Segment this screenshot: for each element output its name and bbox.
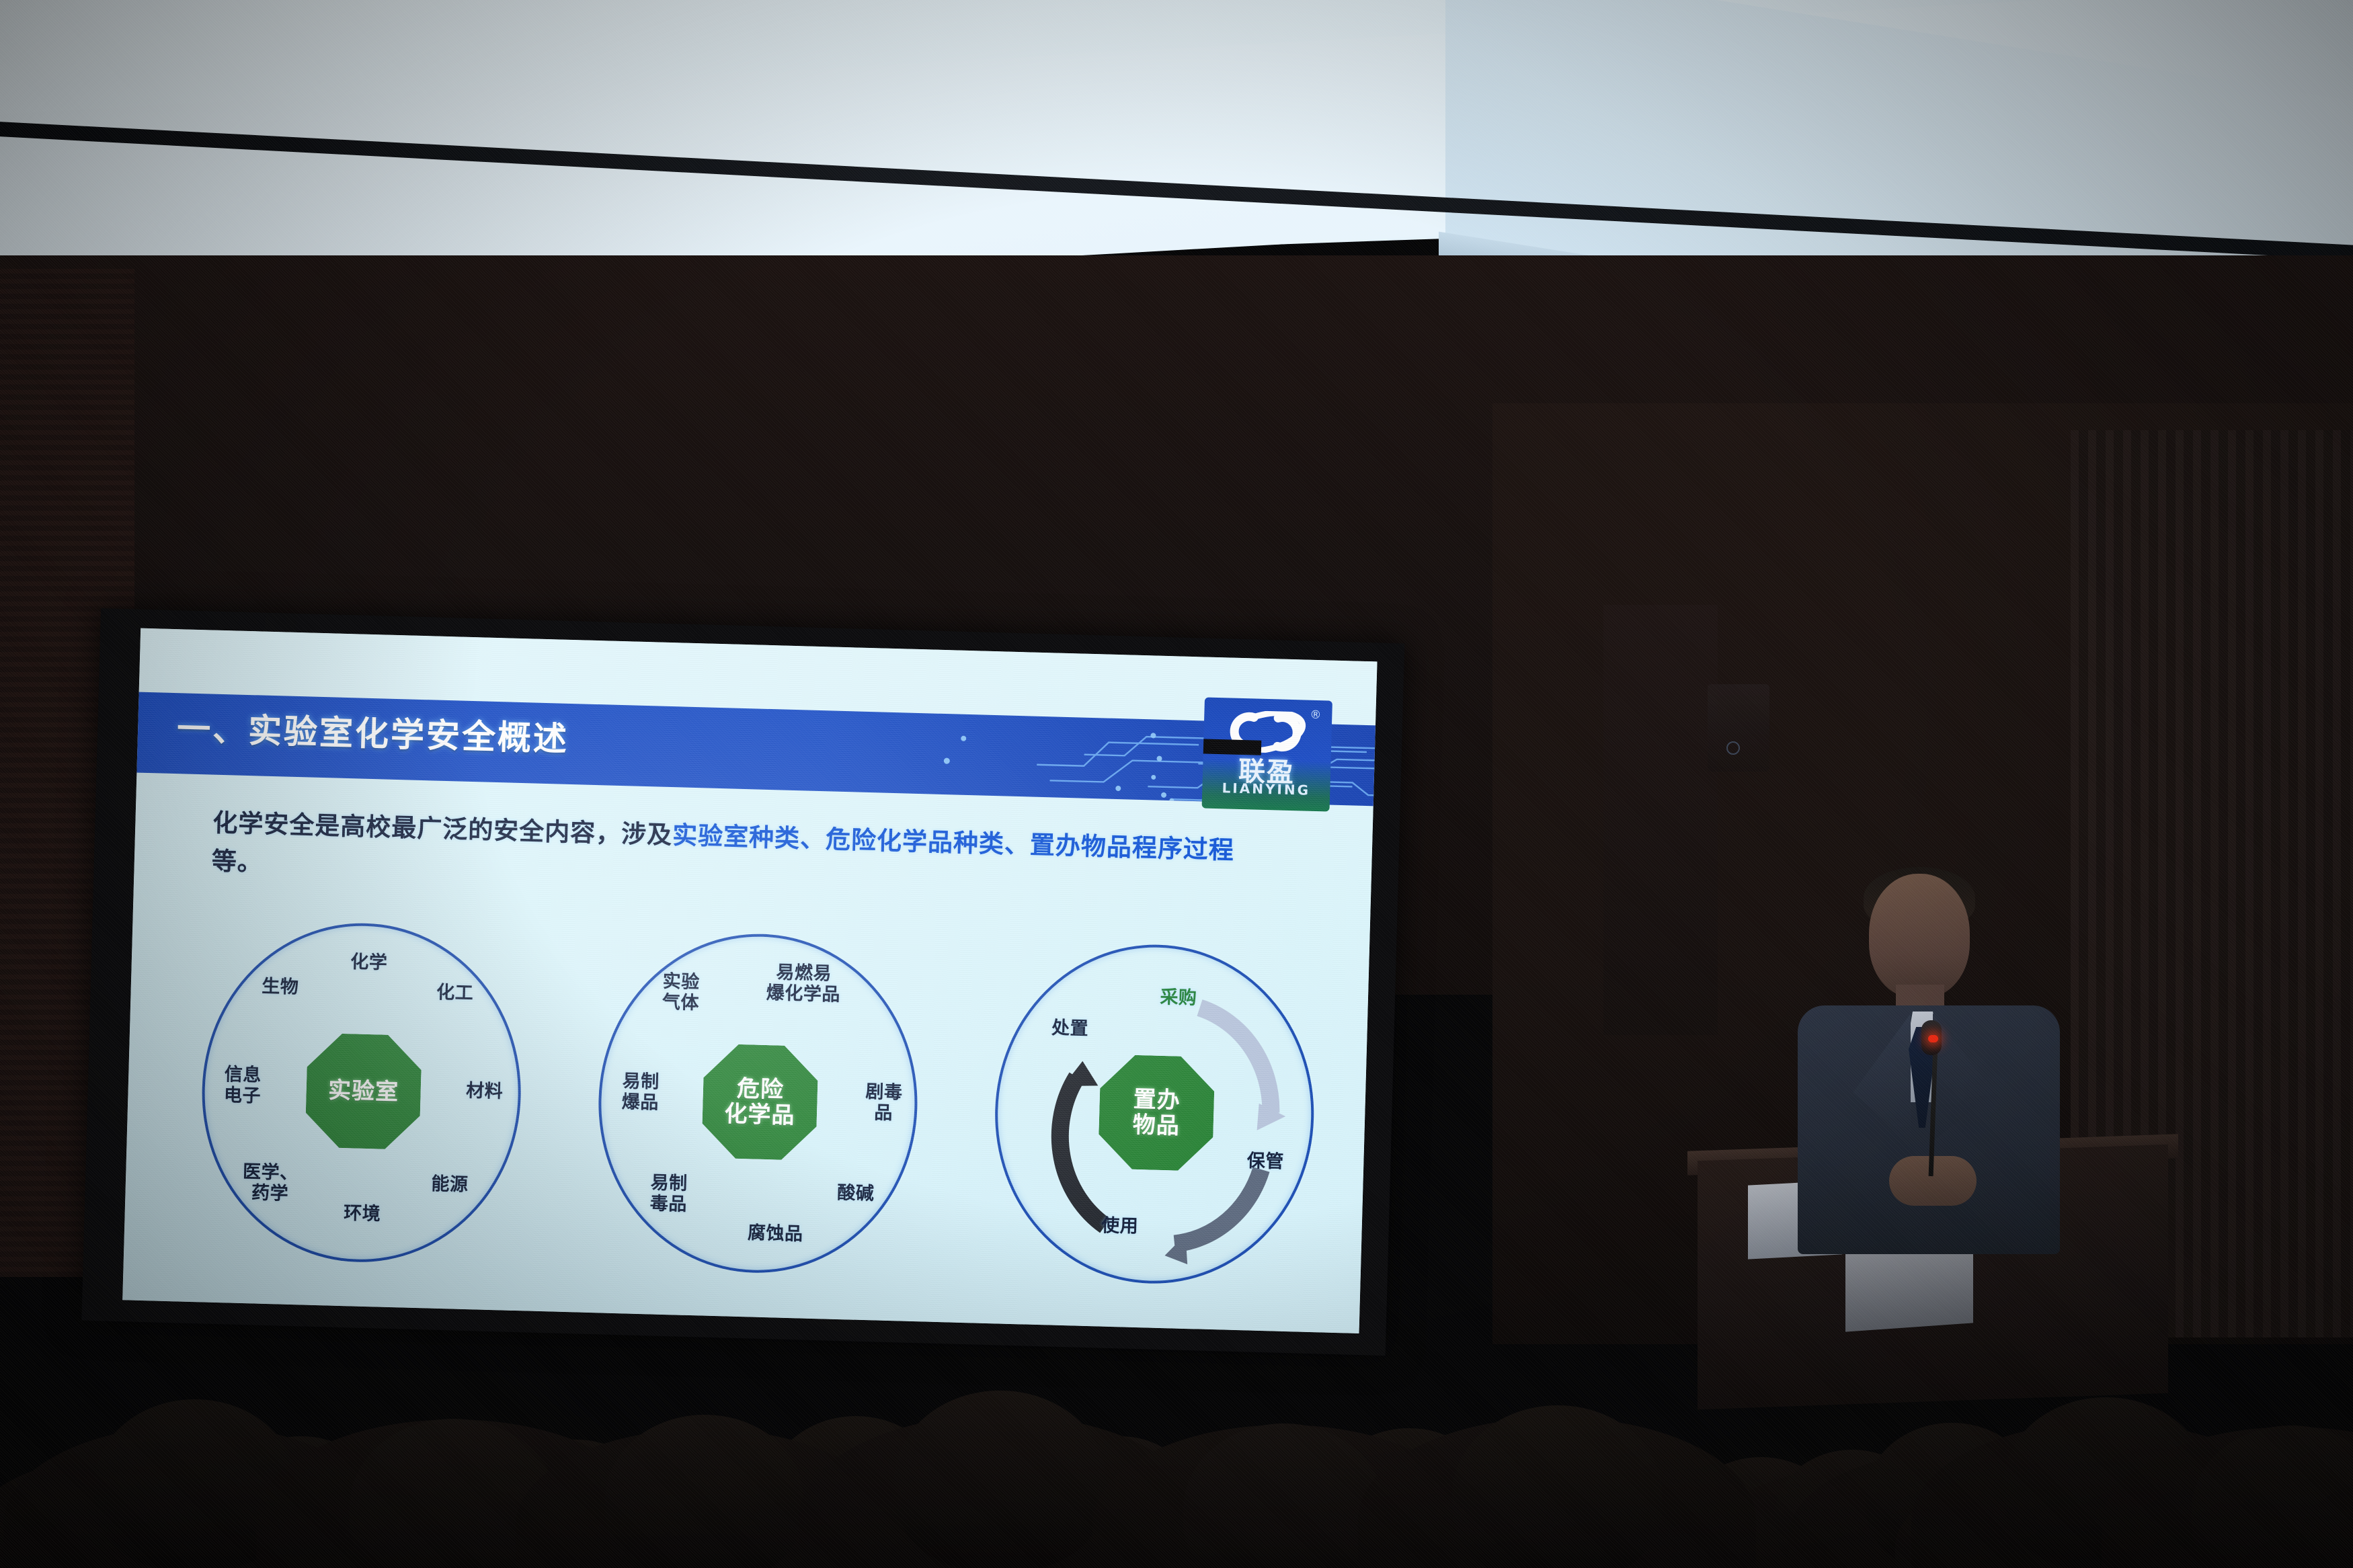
body-text-segment-1: 实验室种类 <box>672 821 801 853</box>
diagram-satellite-label-2: 材料 <box>466 1080 504 1102</box>
diagram-satellite-label-0: 化学 <box>350 952 388 974</box>
body-text-segment-3: 危险化学品种类 <box>826 825 1005 858</box>
body-text-segment-6: 等。 <box>211 847 263 877</box>
diagram-satellite-label-0: 易燃易 爆化学品 <box>766 962 841 1005</box>
audience-member-head <box>894 1391 1106 1568</box>
diagram-satellite-label-1: 化工 <box>436 982 474 1004</box>
slide-body-text: 化学安全是高校最广泛的安全内容，涉及实验室种类、危险化学品种类、置办物品程序过程… <box>211 804 1235 909</box>
diagram-satellite-label-3: 处置 <box>1051 1018 1089 1040</box>
presenter-head <box>1869 874 1970 998</box>
lecture-hall-scene: 一、实验室化学安全概述 ® 联盈 LIANYING <box>0 0 2353 1568</box>
diagram-satellite-label-7: 生物 <box>262 976 299 998</box>
diagram-satellite-label-0: 采购 <box>1160 987 1197 1009</box>
diagram-satellite-label-6: 实验 气体 <box>662 971 701 1014</box>
diagram-center-label: 置办 物品 <box>1132 1087 1181 1139</box>
body-text-segment-0: 化学安全是高校最广泛的安全内容，涉及 <box>212 809 673 850</box>
diagram-center-label: 实验室 <box>328 1077 399 1105</box>
registered-mark-icon: ® <box>1310 708 1322 722</box>
wall-speaker-icon <box>1708 684 1769 772</box>
body-text-segment-5: 置办物品程序过程 <box>1029 831 1234 865</box>
microphone-indicator-led <box>1928 1035 1938 1042</box>
body-text-segment-2: 、 <box>800 824 826 854</box>
wall-panel-behind-podium <box>1603 605 1718 1035</box>
logo-english-name: LIANYING <box>1202 779 1330 798</box>
cycle-arrow-head-2 <box>1063 1061 1099 1087</box>
company-logo: ® 联盈 LIANYING <box>1202 697 1332 811</box>
diagram-satellite-label-6: 信息 电子 <box>224 1064 262 1107</box>
diagram-center-label: 危险 化学品 <box>724 1075 796 1128</box>
diagram-satellite-label-1: 剧毒品 <box>865 1081 904 1124</box>
audience <box>0 1138 2353 1568</box>
diagram-satellite-label-5: 易制 爆品 <box>621 1071 660 1114</box>
body-text-segment-4: 、 <box>1004 829 1030 859</box>
